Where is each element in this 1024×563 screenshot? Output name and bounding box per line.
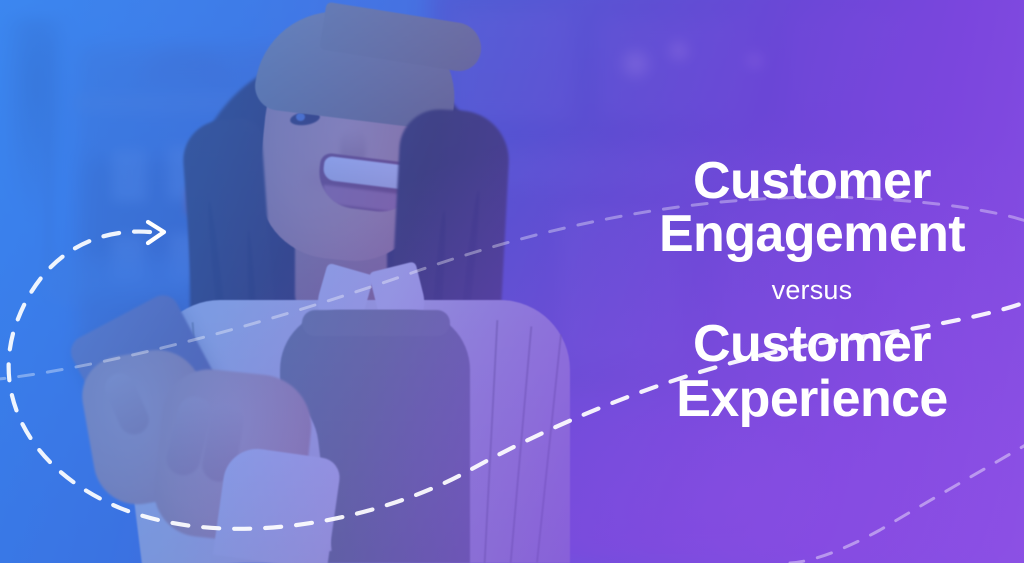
sweater-neckline [302, 310, 450, 336]
headline-line-4: Experience [676, 373, 948, 426]
headline-block: Customer Engagement versus Customer Expe… [600, 0, 1024, 563]
marketing-banner: Customer Engagement versus Customer Expe… [0, 0, 1024, 563]
eye-highlight [296, 113, 305, 121]
person-subject [40, 0, 540, 563]
headline-line-2: Engagement [659, 208, 965, 261]
headline-line-3: Customer [693, 318, 931, 371]
headline-separator: versus [772, 275, 853, 306]
headline-line-1: Customer [693, 155, 931, 208]
shirt-cuff [213, 445, 342, 563]
